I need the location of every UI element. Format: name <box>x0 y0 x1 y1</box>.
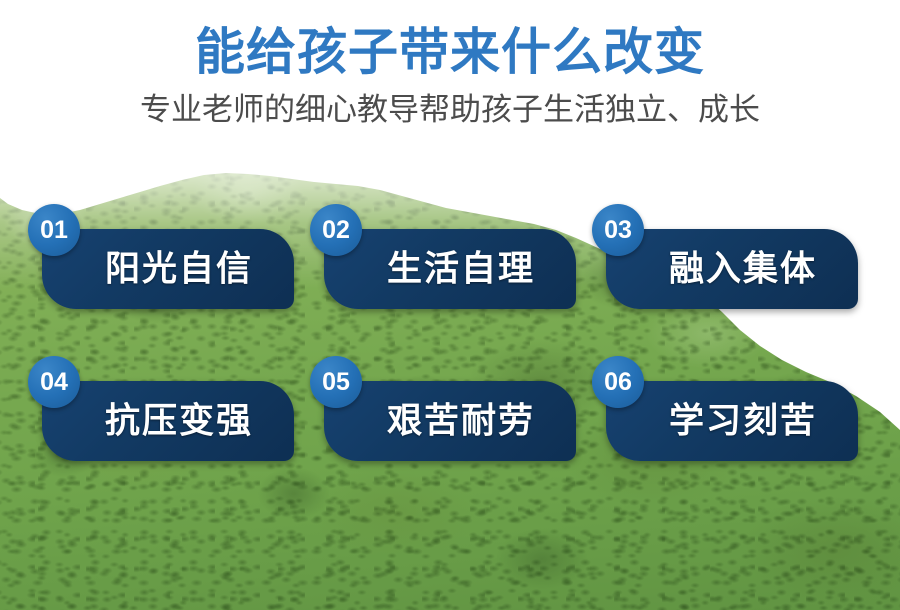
feature-card-02[interactable]: 02 生活自理 <box>324 229 576 309</box>
badge-number-label: 01 <box>28 204 80 256</box>
feature-card-grid: 01 阳光自信 02 生活自理 03 融入集体 04 抗压变强 05 <box>0 0 900 610</box>
feature-card-06[interactable]: 06 学习刻苦 <box>606 381 858 461</box>
poster: 能给孩子带来什么改变 专业老师的细心教导帮助孩子生活独立、成长 01 阳光自信 … <box>0 0 900 610</box>
feature-card-label: 艰苦耐劳 <box>324 404 566 439</box>
number-badge-03: 03 <box>592 204 644 256</box>
feature-card-label: 抗压变强 <box>42 404 284 439</box>
badge-number-label: 02 <box>310 204 362 256</box>
feature-card-03[interactable]: 03 融入集体 <box>606 229 858 309</box>
feature-card-label: 阳光自信 <box>42 252 284 287</box>
feature-card-05[interactable]: 05 艰苦耐劳 <box>324 381 576 461</box>
badge-number-label: 05 <box>310 356 362 408</box>
feature-card-label: 生活自理 <box>324 252 566 287</box>
number-badge-02: 02 <box>310 204 362 256</box>
feature-card-label: 融入集体 <box>606 252 848 287</box>
number-badge-06: 06 <box>592 356 644 408</box>
badge-number-label: 06 <box>592 356 644 408</box>
number-badge-04: 04 <box>28 356 80 408</box>
feature-card-label: 学习刻苦 <box>606 404 848 439</box>
feature-card-04[interactable]: 04 抗压变强 <box>42 381 294 461</box>
number-badge-01: 01 <box>28 204 80 256</box>
feature-card-01[interactable]: 01 阳光自信 <box>42 229 294 309</box>
badge-number-label: 04 <box>28 356 80 408</box>
badge-number-label: 03 <box>592 204 644 256</box>
number-badge-05: 05 <box>310 356 362 408</box>
